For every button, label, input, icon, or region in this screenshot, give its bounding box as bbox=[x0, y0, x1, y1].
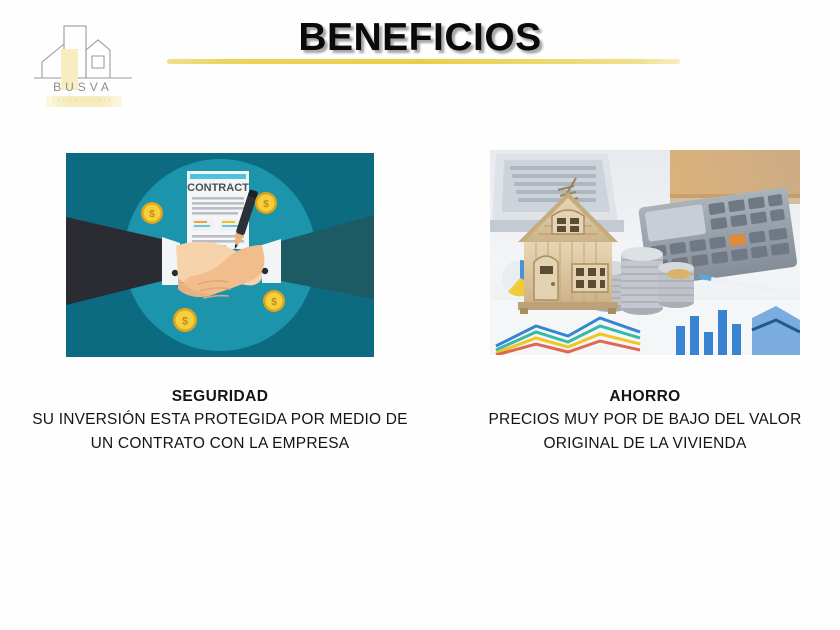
svg-text:CONTRACT: CONTRACT bbox=[187, 182, 249, 194]
svg-text:$: $ bbox=[271, 297, 277, 308]
handshake-contract-illustration: CONTRACT bbox=[66, 153, 374, 357]
benefit-caption-ahorro: AHORRO PRECIOS MUY POR DE BAJO DEL VALOR… bbox=[455, 386, 835, 456]
logo-wordmark: BUSVA bbox=[28, 80, 138, 94]
benefit-body: PRECIOS MUY POR DE BAJO DEL VALOR ORIGIN… bbox=[455, 408, 835, 456]
logo-tagline: INMOBILIARIA bbox=[28, 98, 138, 104]
benefit-title: AHORRO bbox=[455, 386, 835, 408]
coin: $ bbox=[263, 290, 285, 312]
slide-header: BUSVA INMOBILIARIA BENEFICIOS bbox=[0, 0, 840, 125]
handshake-illustration-svg: CONTRACT bbox=[66, 153, 374, 357]
model-house-coins-calculator-photo bbox=[490, 150, 800, 355]
title-underline-rule bbox=[167, 59, 680, 64]
coin: $ bbox=[173, 308, 197, 332]
svg-text:$: $ bbox=[263, 199, 269, 210]
benefit-caption-seguridad: SEGURIDAD SU INVERSIÓN ESTA PROTEGIDA PO… bbox=[30, 386, 410, 456]
svg-text:$: $ bbox=[182, 316, 188, 328]
coin: $ bbox=[255, 192, 277, 214]
house-photo-svg bbox=[490, 150, 800, 355]
benefit-title: SEGURIDAD bbox=[30, 386, 410, 408]
benefit-body: SU INVERSIÓN ESTA PROTEGIDA POR MEDIO DE… bbox=[30, 408, 410, 456]
page-title: BENEFICIOS bbox=[0, 16, 840, 60]
svg-text:$: $ bbox=[149, 209, 155, 220]
coin: $ bbox=[141, 202, 163, 224]
